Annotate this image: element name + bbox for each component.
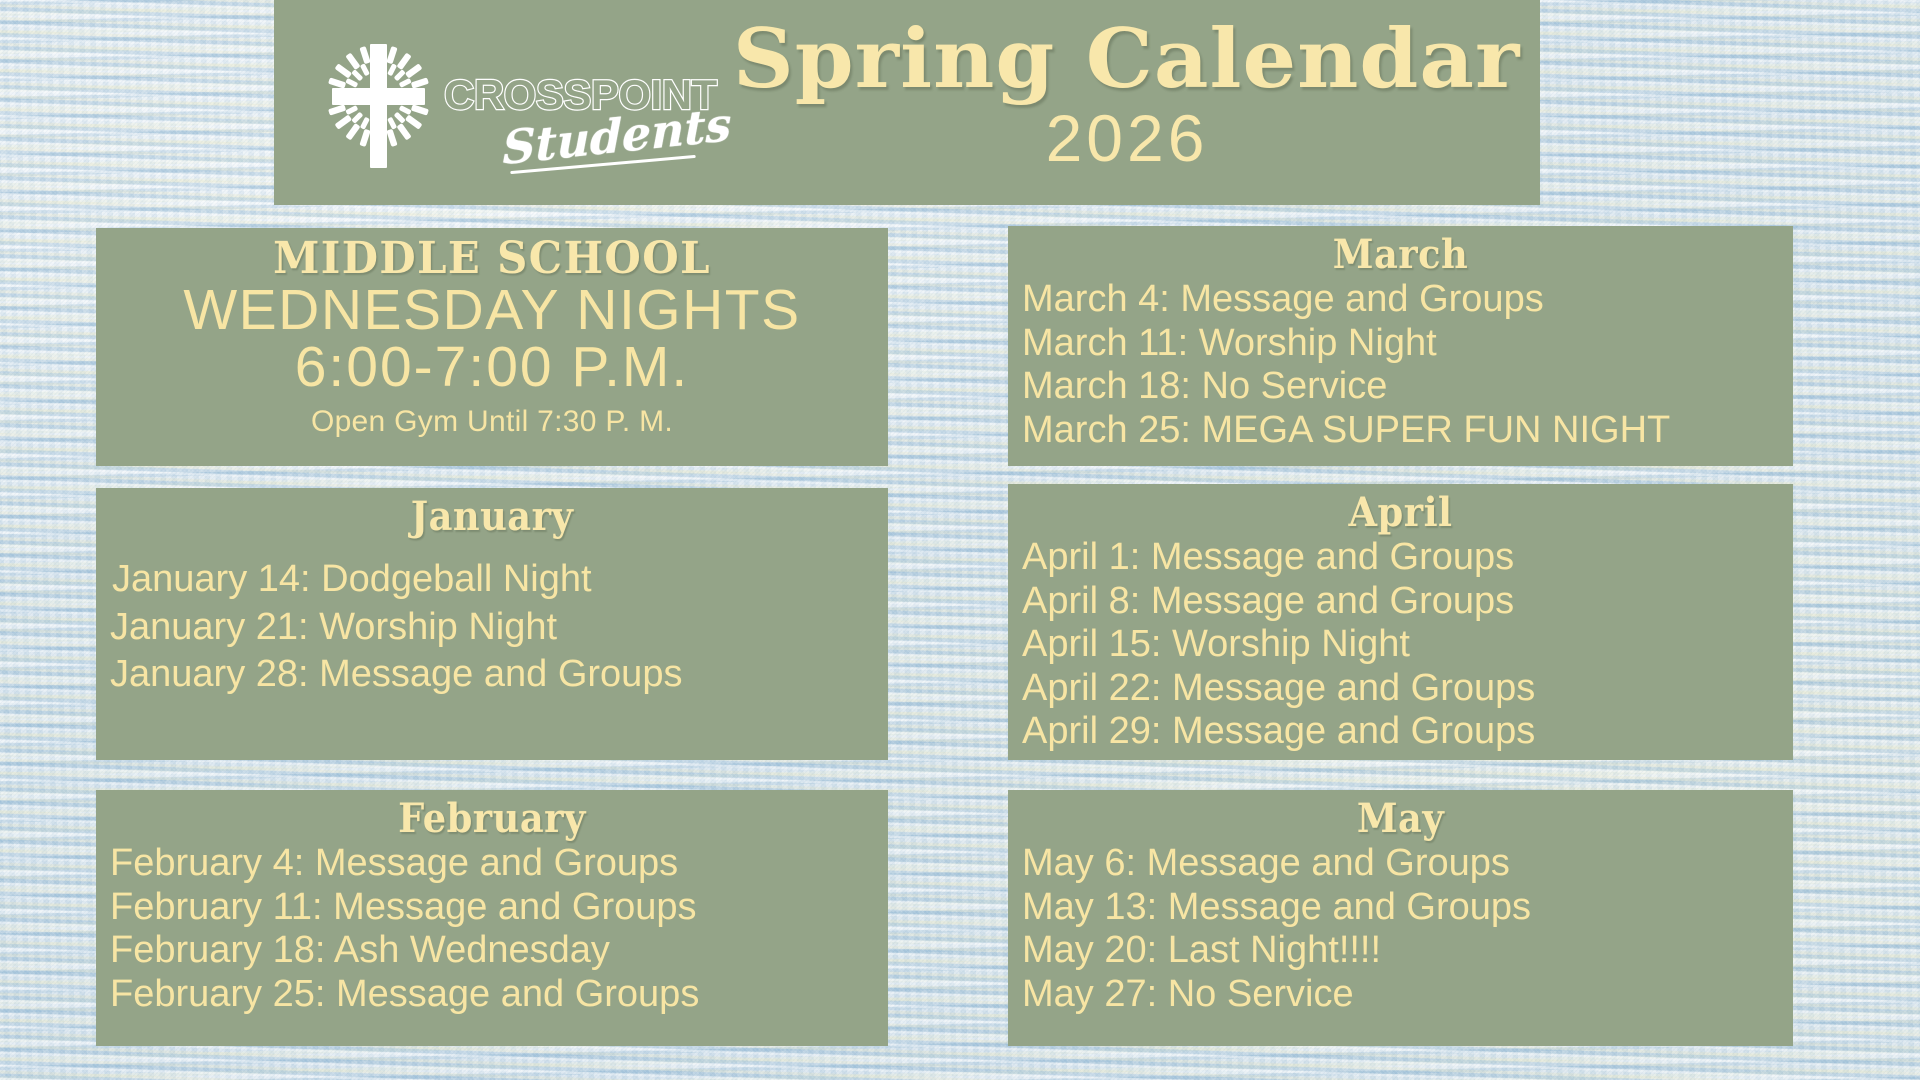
- event-item: March 25: MEGA SUPER FUN NIGHT: [1022, 409, 1779, 453]
- event-item: April 8: Message and Groups: [1022, 580, 1779, 624]
- middle-school-meeting-time: 6:00-7:00 P.M.: [110, 339, 874, 396]
- event-list-may: May 6: Message and Groups May 13: Messag…: [1022, 842, 1779, 1016]
- event-item: January 14: Dodgeball Night: [110, 556, 874, 604]
- event-item: January 28: Message and Groups: [110, 651, 874, 699]
- header-banner: CROSSPOINT Students Spring Calendar 2026: [274, 0, 1540, 205]
- event-item: April 29: Message and Groups: [1022, 710, 1779, 754]
- event-item: February 25: Message and Groups: [110, 973, 874, 1017]
- event-item: May 13: Message and Groups: [1022, 886, 1779, 930]
- header-title-group: Spring Calendar 2026: [714, 20, 1540, 185]
- page-year: 2026: [1046, 101, 1209, 177]
- event-item: May 6: Message and Groups: [1022, 842, 1779, 886]
- card-middle-school: MIDDLE SCHOOL WEDNESDAY NIGHTS 6:00-7:00…: [96, 228, 888, 466]
- month-heading-may: May: [1052, 798, 1748, 840]
- page-title: Spring Calendar: [733, 20, 1521, 99]
- event-item: May 27: No Service: [1022, 973, 1779, 1017]
- event-list-april: April 1: Message and Groups April 8: Mes…: [1022, 536, 1779, 754]
- event-list-march: March 4: Message and Groups March 11: Wo…: [1022, 278, 1779, 452]
- month-heading-february: February: [141, 798, 844, 840]
- middle-school-heading: MIDDLE SCHOOL: [129, 236, 855, 282]
- month-heading-january: January: [141, 496, 844, 538]
- card-april: April April 1: Message and Groups April …: [1008, 484, 1793, 760]
- card-february: February February 4: Message and Groups …: [96, 790, 888, 1046]
- event-item: February 4: Message and Groups: [110, 842, 874, 886]
- event-item: February 18: Ash Wednesday: [110, 929, 874, 973]
- month-heading-march: March: [1052, 234, 1748, 276]
- month-heading-april: April: [1052, 492, 1748, 534]
- card-january: January January 14: Dodgeball Night Janu…: [96, 488, 888, 760]
- event-item: April 1: Message and Groups: [1022, 536, 1779, 580]
- event-item: February 11: Message and Groups: [110, 886, 874, 930]
- card-may: May May 6: Message and Groups May 13: Me…: [1008, 790, 1793, 1046]
- middle-school-open-gym-note: Open Gym Until 7:30 P. M.: [110, 402, 874, 441]
- event-item: January 21: Worship Night: [110, 604, 874, 652]
- event-item: April 22: Message and Groups: [1022, 667, 1779, 711]
- cross-sunburst-icon: [320, 36, 438, 176]
- event-item: March 18: No Service: [1022, 365, 1779, 409]
- event-item: April 15: Worship Night: [1022, 623, 1779, 667]
- event-item: March 4: Message and Groups: [1022, 278, 1779, 322]
- event-list-january: January 14: Dodgeball Night January 21: …: [110, 556, 874, 699]
- card-march: March March 4: Message and Groups March …: [1008, 226, 1793, 466]
- event-item: March 11: Worship Night: [1022, 322, 1779, 366]
- event-list-february: February 4: Message and Groups February …: [110, 842, 874, 1016]
- brand-logo: CROSSPOINT Students: [274, 0, 714, 205]
- event-item: May 20: Last Night!!!!: [1022, 929, 1779, 973]
- middle-school-meeting-day: WEDNESDAY NIGHTS: [110, 282, 874, 339]
